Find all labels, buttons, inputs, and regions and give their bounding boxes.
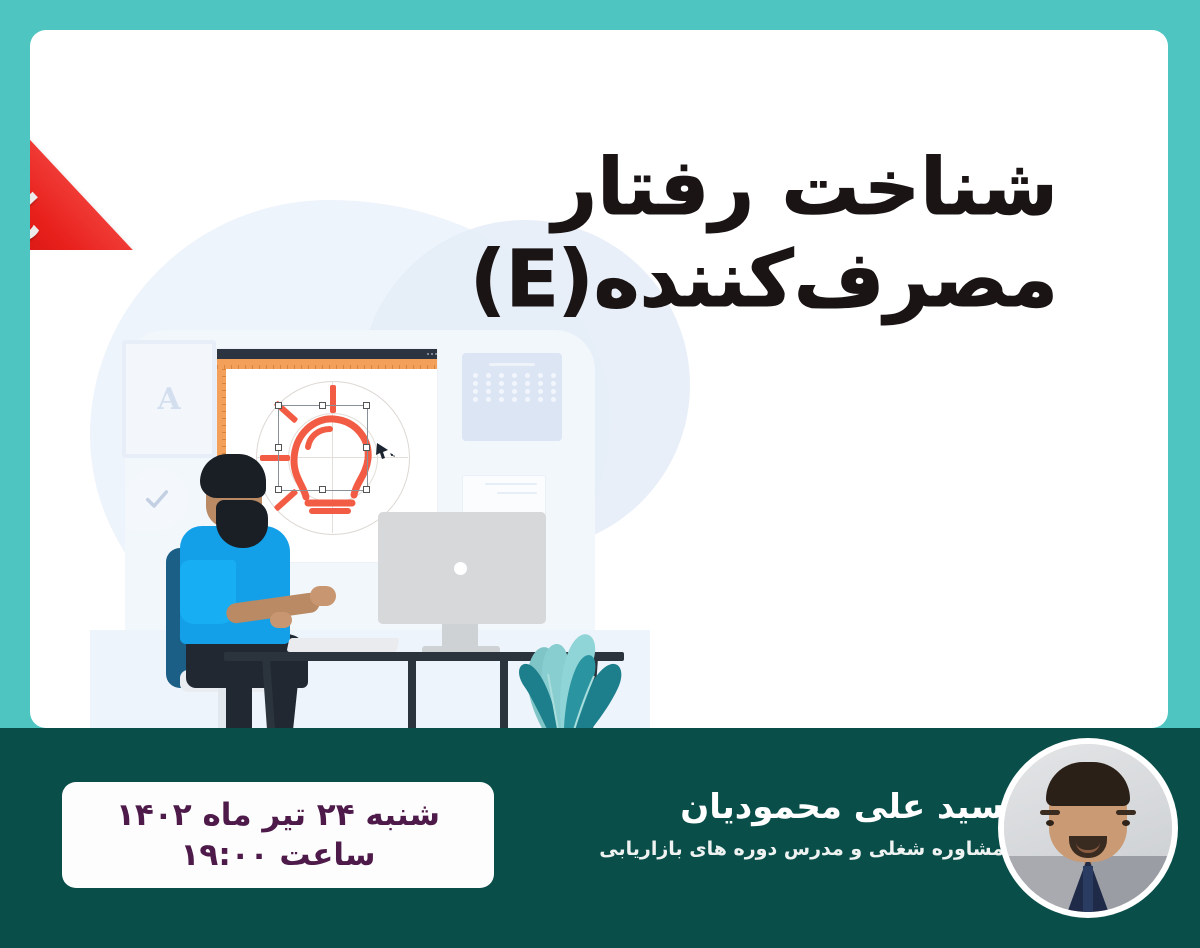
speaker-name: سید علی محمودیان: [574, 786, 1004, 829]
person-hand-right: [310, 586, 336, 606]
check-icon: [126, 468, 188, 530]
person-eye-left: [234, 492, 238, 496]
speaker-info: سید علی محمودیان مشاوره شغلی و مدرس دوره…: [574, 786, 1004, 861]
keyboard: [287, 638, 400, 652]
calendar-poster-icon: [462, 353, 562, 441]
pen-tool-cursor-icon: [374, 441, 400, 467]
speaker-role: مشاوره شغلی و مدرس دوره های بازاریابی: [574, 837, 1004, 862]
poster-card: A: [30, 30, 1168, 728]
person-hair: [200, 454, 266, 498]
board-titlebar: [217, 349, 437, 359]
webinar-poster: A: [0, 0, 1200, 948]
selection-box: [278, 405, 368, 491]
title-line-1: شناخت رفتار: [458, 142, 1058, 234]
event-date: شنبه ۲۴ تیر ماه ۱۴۰۲: [116, 797, 440, 833]
speaker-avatar: [998, 738, 1178, 918]
wall-poster-typography: A: [122, 340, 216, 458]
desk-leg: [408, 658, 416, 728]
person-leg-back: [226, 678, 252, 728]
event-time: ساعت ۱۹:۰۰: [181, 837, 376, 873]
person-hand-left: [270, 612, 292, 628]
board-ruler-top: [217, 359, 437, 369]
title-line-2: مصرف‌کننده(E): [458, 234, 1058, 326]
event-date-card: شنبه ۲۴ تیر ماه ۱۴۰۲ ساعت ۱۹:۰۰: [62, 782, 494, 888]
monitor-dot: [454, 562, 467, 575]
office-chair-pole: [218, 685, 226, 728]
page-title: شناخت رفتار مصرف‌کننده(E): [458, 142, 1058, 326]
poster-letter-a: A: [157, 382, 180, 417]
potted-plant: [490, 582, 640, 728]
footer-bar: شنبه ۲۴ تیر ماه ۱۴۰۲ ساعت ۱۹:۰۰ سید علی …: [0, 728, 1200, 948]
person-eye-right: [250, 492, 254, 496]
person-beard: [216, 500, 268, 548]
